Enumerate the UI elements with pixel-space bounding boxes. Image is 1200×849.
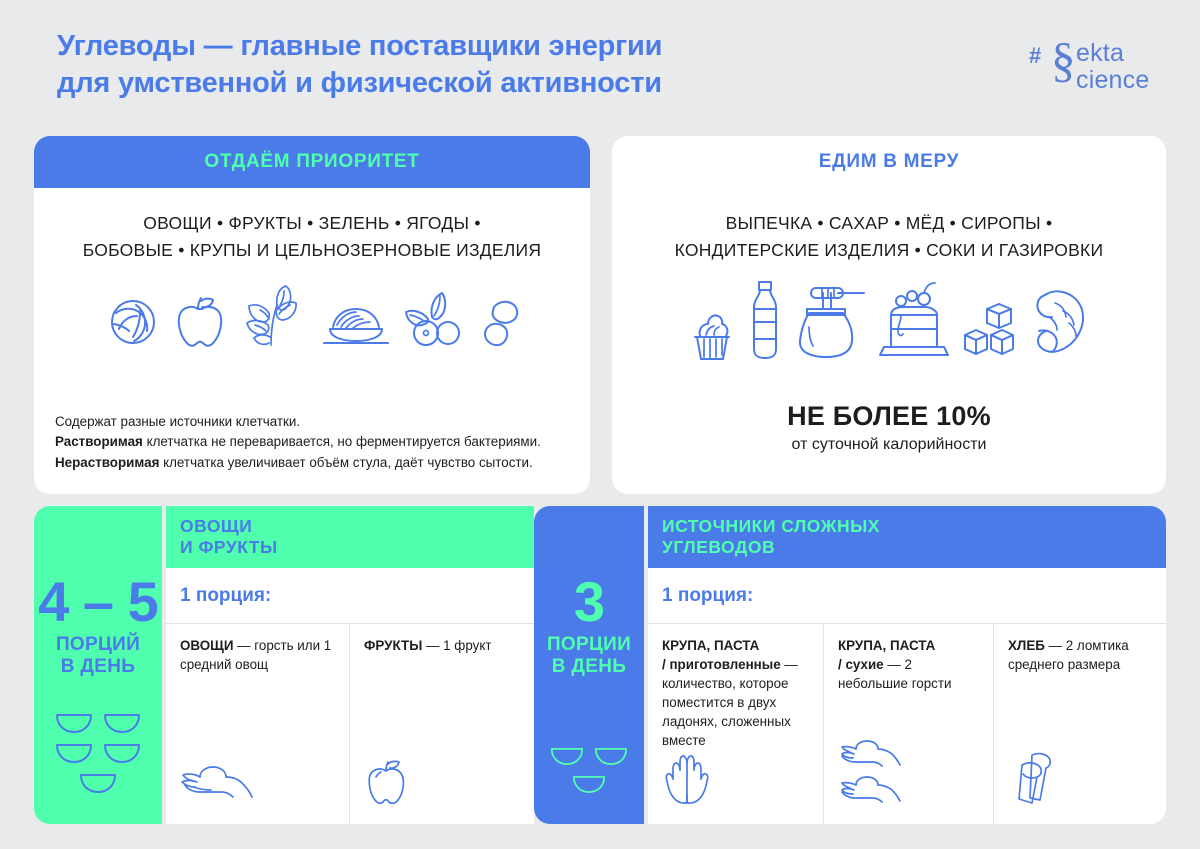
carbs-panel-heading: ИСТОЧНИКИ СЛОЖНЫХ УГЛЕВОДОВ [648, 506, 1166, 568]
moderation-food-line-1: ВЫПЕЧКА • САХАР • МЁД • СИРОПЫ • [628, 210, 1150, 237]
carbs-portion-caption-line-2: В ДЕНЬ [547, 656, 631, 678]
beans-icon [478, 289, 522, 351]
priority-card-heading: ОТДАЁМ ПРИОРИТЕТ [34, 136, 590, 188]
carbs-heading-line-2: УГЛЕВОДОВ [662, 537, 1152, 558]
apple-icon [364, 755, 408, 810]
page-title-line-2: для умственной и физической активности [57, 65, 857, 102]
moderation-food-list: ВЫПЕЧКА • САХАР • МЁД • СИРОПЫ • КОНДИТЕ… [612, 188, 1166, 263]
hand-with-vegetable-glyph-icon [180, 761, 256, 805]
carbs-portion-caption: ПОРЦИИ В ДЕНЬ [547, 634, 631, 678]
bread-cell: ХЛЕБ — 2 ломтика среднего размера [994, 624, 1166, 824]
page-title-line-1: Углеводы — главные поставщики энергии [57, 28, 857, 65]
vegetables-portion-number: 4 – 5 [38, 576, 158, 628]
portions-section: 4 – 5 ПОРЦИЙ В ДЕНЬ ОВОЩИ И ФРУКТЫ 1 пор… [0, 506, 1200, 824]
cupcake-icon [689, 303, 735, 361]
vegetables-portion-label: 1 порция: [166, 568, 534, 624]
bread-bold: ХЛЕБ [1008, 638, 1045, 653]
moderation-card-heading: ЕДИМ В МЕРУ [612, 136, 1166, 188]
carbs-portion-label: 1 порция: [648, 568, 1166, 624]
two-cupped-hands-glyph-icon [662, 749, 712, 805]
vegetables-portion-caption: ПОРЦИЙ В ДЕНЬ [56, 634, 140, 678]
cooked-grain-bold: КРУПА, ПАСТА [662, 638, 759, 653]
bread-slices-icon [1008, 749, 1060, 810]
fiber-description: Содержат разные источники клетчатки. Рас… [55, 412, 585, 474]
vegetables-portion-caption-line-1: ПОРЦИЙ [56, 634, 140, 656]
hand-with-vegetable-icon [180, 761, 256, 810]
sugar-limit-caption: от суточной калорийности [612, 436, 1166, 454]
cooked-grain-cell: КРУПА, ПАСТА/ приготовленные — количеств… [648, 624, 824, 824]
bowl-icon [79, 772, 117, 794]
vegetables-cell-bold: ОВОЩИ [180, 638, 233, 653]
priority-food-line-1: ОВОЩИ • ФРУКТЫ • ЗЕЛЕНЬ • ЯГОДЫ • [60, 210, 564, 237]
dry-grain-bold-sub: / сухие [838, 657, 884, 672]
logo-s-glyph-icon: § [1051, 35, 1076, 84]
sugar-limit-value: НЕ БОЛЕЕ 10% [612, 401, 1166, 432]
sugar-cubes-icon [961, 299, 1017, 361]
two-cupped-hands-icon [662, 749, 712, 810]
bowl-icon [55, 742, 93, 764]
pasta-bowl-icon [320, 289, 392, 351]
two-hands-portions-icon [838, 737, 910, 810]
priority-food-list: ОВОЩИ • ФРУКТЫ • ЗЕЛЕНЬ • ЯГОДЫ • БОБОВЫ… [34, 188, 590, 263]
fruits-cell-text: ФРУКТЫ — 1 фрукт [364, 636, 522, 655]
priority-food-line-2: БОБОВЫЕ • КРУПЫ И ЦЕЛЬНОЗЕРНОВЫЕ ИЗДЕЛИЯ [60, 237, 564, 264]
carbs-cells: КРУПА, ПАСТА/ приготовленные — количеств… [648, 624, 1166, 824]
logo-hash-symbol: # [1029, 43, 1041, 69]
page-header: Углеводы — главные поставщики энергии дл… [0, 0, 1200, 128]
carbs-heading-line-1: ИСТОЧНИКИ СЛОЖНЫХ [662, 516, 1152, 537]
fruits-cell: ФРУКТЫ — 1 фрукт [350, 624, 534, 824]
brand-logo: # § ekta cience [1028, 36, 1168, 100]
bowl-icon [103, 742, 141, 764]
bread-slices-glyph-icon [1008, 749, 1060, 805]
cake-slice-icon [879, 281, 951, 361]
berries-icon [402, 287, 468, 351]
cooked-grain-text: КРУПА, ПАСТА/ приготовленные — количеств… [662, 636, 811, 750]
fiber-line-1: Содержат разные источники клетчатки. [55, 412, 585, 433]
moderation-food-line-2: КОНДИТЕРСКИЕ ИЗДЕЛИЯ • СОКИ И ГАЗИРОВКИ [628, 237, 1150, 264]
cabbage-icon [102, 289, 164, 351]
carbs-portion-number: 3 [574, 576, 604, 628]
fruits-cell-bold: ФРУКТЫ [364, 638, 422, 653]
vegetables-cells: ОВОЩИ — горсть или 1 средний овощ [166, 624, 534, 824]
carbs-portion-badge: 3 ПОРЦИИ В ДЕНЬ [534, 506, 644, 824]
vegetables-cell: ОВОЩИ — горсть или 1 средний овощ [166, 624, 350, 824]
vegetables-heading-line-2: И ФРУКТЫ [180, 537, 520, 558]
moderation-card: ЕДИМ В МЕРУ ВЫПЕЧКА • САХАР • МЁД • СИРО… [612, 136, 1166, 494]
carbs-panel: ИСТОЧНИКИ СЛОЖНЫХ УГЛЕВОДОВ 1 порция: КР… [648, 506, 1166, 824]
dry-grain-bold: КРУПА, ПАСТА [838, 638, 935, 653]
vegetables-panel-heading: ОВОЩИ И ФРУКТЫ [166, 506, 534, 568]
vegetables-portion-caption-line-2: В ДЕНЬ [56, 656, 140, 678]
fiber-line-2: Растворимая клетчатка не переваривается,… [55, 432, 585, 453]
vegetables-portion-badge: 4 – 5 ПОРЦИЙ В ДЕНЬ [34, 506, 162, 824]
fruits-cell-desc: — 1 фрукт [422, 638, 491, 653]
fiber-bold-soluble: Растворимая [55, 434, 143, 449]
carbs-bowl-icons [549, 746, 629, 794]
bowl-icon [572, 774, 606, 794]
bread-text: ХЛЕБ — 2 ломтика среднего размера [1008, 636, 1154, 674]
moderation-icon-row [612, 275, 1166, 361]
cooked-grain-bold-sub: / приготовленные [662, 657, 781, 672]
bowl-icon [55, 712, 93, 734]
vegetables-panel: ОВОЩИ И ФРУКТЫ 1 порция: ОВОЩИ — горсть … [166, 506, 534, 824]
two-hands-portions-glyph-icon [838, 737, 910, 805]
vegetables-heading-line-1: ОВОЩИ [180, 516, 520, 537]
vegetables-cell-text: ОВОЩИ — горсть или 1 средний овощ [180, 636, 337, 674]
croissant-icon [1027, 285, 1089, 361]
bowl-icon [594, 746, 628, 766]
infographic-page: Углеводы — главные поставщики энергии дл… [0, 0, 1200, 849]
page-title: Углеводы — главные поставщики энергии дл… [57, 28, 857, 102]
fiber-bold-insoluble: Нерастворимая [55, 455, 159, 470]
honey-jar-icon [795, 279, 869, 361]
priority-icon-row [34, 279, 590, 351]
apple-icon [174, 289, 222, 351]
logo-line-1: ekta [1076, 39, 1124, 68]
vegetables-bowl-icons [53, 712, 143, 794]
greens-icon [232, 279, 310, 351]
dry-grain-cell: КРУПА, ПАСТА/ сухие — 2 небольшие горсти [824, 624, 994, 824]
carbs-portion-caption-line-1: ПОРЦИИ [547, 634, 631, 656]
fiber-text-insoluble: клетчатка увеличивает объём стула, даёт … [159, 455, 532, 470]
dry-grain-text: КРУПА, ПАСТА/ сухие — 2 небольшие горсти [838, 636, 981, 693]
soda-bottle-icon [745, 279, 785, 361]
logo-line-2: cience [1076, 66, 1149, 95]
fiber-line-3: Нерастворимая клетчатка увеличивает объё… [55, 453, 585, 474]
sugar-limit-block: НЕ БОЛЕЕ 10% от суточной калорийности [612, 401, 1166, 454]
apple-glyph-icon [364, 755, 408, 805]
fiber-text-soluble: клетчатка не переваривается, но ферменти… [143, 434, 541, 449]
priority-card: ОТДАЁМ ПРИОРИТЕТ ОВОЩИ • ФРУКТЫ • ЗЕЛЕНЬ… [34, 136, 590, 494]
bowl-icon [103, 712, 141, 734]
bowl-icon [550, 746, 584, 766]
